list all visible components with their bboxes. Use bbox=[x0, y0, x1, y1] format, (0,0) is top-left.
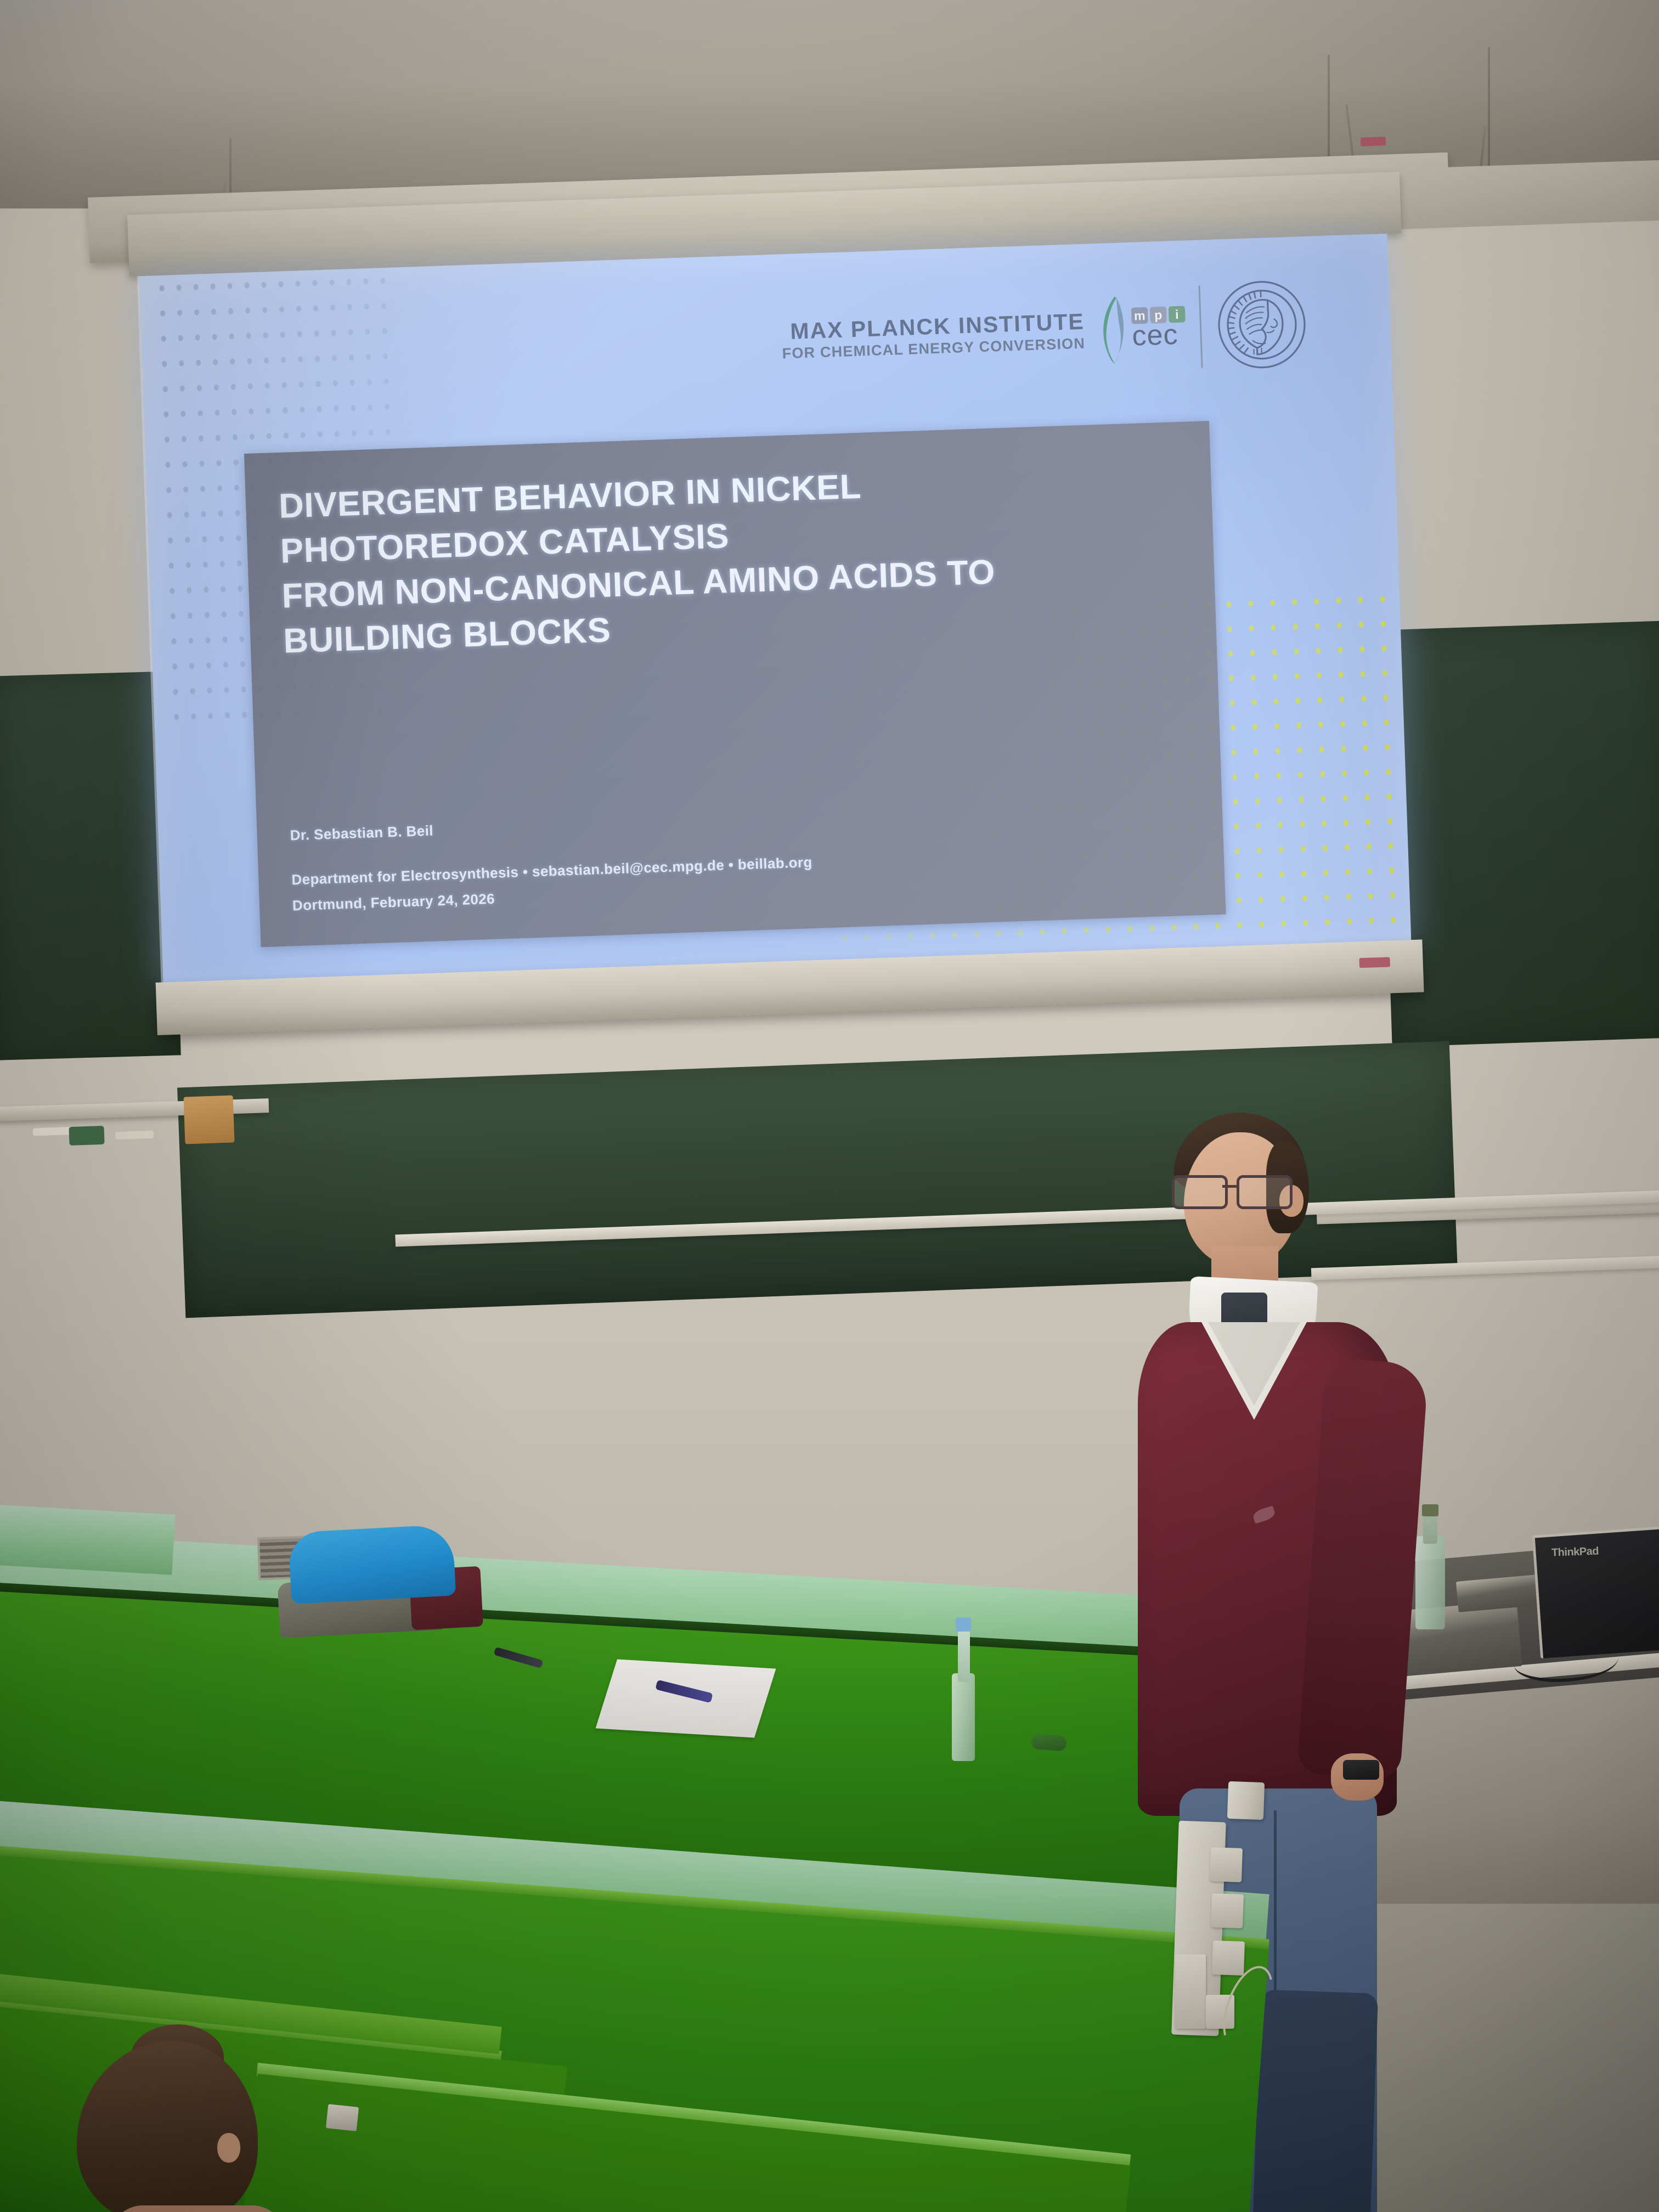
decor-dot bbox=[230, 358, 235, 364]
decor-dot bbox=[1278, 847, 1283, 853]
decor-dot bbox=[313, 305, 318, 311]
decor-dot bbox=[1254, 773, 1259, 779]
decor-dot bbox=[1383, 670, 1387, 676]
decor-dot bbox=[1340, 721, 1345, 727]
decor-dot bbox=[1386, 793, 1391, 799]
decor-dot bbox=[385, 404, 390, 410]
slide-title: DIVERGENT BEHAVIOR IN NICKEL PHOTOREDOX … bbox=[278, 453, 1194, 664]
decor-dot bbox=[241, 686, 246, 692]
decor-dot bbox=[267, 433, 272, 439]
decor-dot bbox=[1346, 894, 1351, 900]
decor-dot bbox=[191, 713, 196, 719]
decor-dot bbox=[182, 461, 187, 467]
slide-title-box: DIVERGENT BEHAVIOR IN NICKEL PHOTOREDOX … bbox=[244, 421, 1226, 947]
decor-dot bbox=[1361, 696, 1366, 702]
decor-dot bbox=[177, 310, 182, 316]
decor-dot bbox=[231, 383, 236, 390]
decor-dot bbox=[265, 382, 270, 388]
decor-dot bbox=[1252, 724, 1257, 730]
decor-dot bbox=[201, 511, 206, 517]
decor-dot bbox=[383, 379, 388, 385]
decor-dot bbox=[168, 538, 173, 544]
decor-dot bbox=[180, 411, 185, 417]
decor-dot bbox=[206, 662, 211, 668]
decor-dot bbox=[1337, 622, 1342, 628]
decor-dot bbox=[166, 487, 171, 493]
decor-dot bbox=[1040, 929, 1045, 935]
decor-dot bbox=[1236, 898, 1241, 904]
decor-dot bbox=[1317, 697, 1322, 703]
decor-dot bbox=[1227, 626, 1232, 632]
decor-dot bbox=[199, 436, 204, 442]
slide-header: MAX PLANCK INSTITUTE FOR CHEMICAL ENERGY… bbox=[780, 277, 1310, 387]
decor-dot bbox=[212, 334, 217, 340]
audience-ear bbox=[217, 2133, 240, 2163]
decor-dot bbox=[162, 361, 167, 367]
decor-dot bbox=[1339, 672, 1344, 678]
decor-dot bbox=[161, 336, 166, 342]
decor-dot bbox=[248, 383, 253, 389]
decor-dot bbox=[1273, 674, 1278, 680]
decor-dot bbox=[239, 636, 244, 642]
decor-dot bbox=[1321, 795, 1325, 802]
decor-dot bbox=[1369, 917, 1374, 923]
decor-dot bbox=[200, 486, 205, 492]
decor-dot bbox=[1237, 922, 1242, 928]
decor-dot bbox=[163, 411, 168, 417]
decor-dot bbox=[330, 304, 335, 311]
decor-dot bbox=[1320, 771, 1325, 777]
decor-dot bbox=[1322, 820, 1327, 826]
decor-dot bbox=[1389, 867, 1394, 873]
decor-dot bbox=[196, 360, 201, 366]
decor-dot bbox=[211, 309, 216, 315]
screen-surface: MAX PLANCK INSTITUTE FOR CHEMICAL ENERGY… bbox=[139, 234, 1412, 989]
decor-dot bbox=[1385, 744, 1390, 750]
cec-text: m p i cec bbox=[1131, 306, 1187, 351]
decor-dot bbox=[1278, 822, 1283, 828]
decor-dot bbox=[299, 381, 304, 387]
decor-dot bbox=[187, 587, 191, 593]
decor-dot bbox=[239, 611, 244, 617]
decor-dot bbox=[179, 360, 184, 366]
decor-dot bbox=[207, 687, 212, 693]
presentation-clicker[interactable] bbox=[1343, 1760, 1379, 1780]
decor-dot bbox=[222, 636, 227, 642]
decor-dot bbox=[386, 429, 391, 435]
decor-dot bbox=[220, 561, 225, 567]
decor-dot bbox=[347, 304, 352, 310]
decor-dot bbox=[1345, 869, 1350, 875]
presentation-slide: MAX PLANCK INSTITUTE FOR CHEMICAL ENERGY… bbox=[139, 234, 1412, 989]
decor-dot bbox=[1231, 749, 1236, 755]
glasses-lens-left bbox=[1172, 1175, 1228, 1209]
decor-dot bbox=[170, 588, 174, 594]
decor-dot bbox=[1294, 648, 1299, 654]
blue-jacket bbox=[288, 1524, 456, 1604]
decor-dot bbox=[1317, 672, 1322, 678]
decor-dot bbox=[1365, 819, 1370, 825]
decor-dot bbox=[242, 712, 247, 718]
decor-dot bbox=[1171, 924, 1176, 930]
decor-dot bbox=[1270, 600, 1275, 606]
decor-dot bbox=[1256, 822, 1261, 828]
water-bottle-bench[interactable] bbox=[952, 1673, 975, 1761]
decor-dot bbox=[202, 536, 207, 542]
paper-sheet[interactable] bbox=[596, 1659, 776, 1737]
decor-dot bbox=[298, 356, 303, 362]
mpi-cec-logo: m p i cec bbox=[1098, 292, 1187, 365]
decor-dot bbox=[217, 485, 222, 491]
decor-dot bbox=[1235, 873, 1240, 879]
decor-dot bbox=[369, 430, 374, 436]
decor-dot bbox=[213, 359, 218, 365]
decor-dot bbox=[1292, 599, 1297, 605]
decor-dot bbox=[169, 562, 174, 568]
decor-dot bbox=[1255, 798, 1260, 804]
decor-dot bbox=[364, 303, 369, 309]
decor-dot bbox=[1347, 918, 1352, 924]
decor-dot bbox=[1215, 923, 1220, 929]
decor-dot bbox=[1367, 868, 1372, 874]
mpi-wordmark: MAX PLANCK INSTITUTE FOR CHEMICAL ENERGY… bbox=[781, 311, 1086, 362]
decor-dot bbox=[1316, 647, 1321, 653]
decor-dot bbox=[1364, 794, 1369, 800]
water-bottle-bench-neck bbox=[958, 1628, 970, 1682]
decor-dot bbox=[1319, 746, 1324, 752]
decor-dot bbox=[317, 406, 321, 412]
decor-dot bbox=[184, 511, 189, 517]
decor-dot bbox=[178, 335, 183, 341]
decor-dot bbox=[278, 281, 283, 287]
decor-dot bbox=[1275, 748, 1280, 754]
decor-dot bbox=[1359, 622, 1364, 628]
decor-dot bbox=[221, 586, 225, 592]
laptop-brand-mark: ThinkPad bbox=[1551, 1545, 1599, 1560]
decor-dot bbox=[1303, 920, 1308, 926]
decor-dot bbox=[1248, 601, 1253, 607]
decor-dot bbox=[297, 331, 302, 337]
decor-dot bbox=[886, 934, 891, 940]
decor-dot bbox=[1301, 871, 1306, 877]
decor-dot bbox=[1277, 797, 1282, 803]
decor-dot bbox=[245, 307, 250, 313]
decor-dot bbox=[174, 714, 179, 720]
decor-dot bbox=[247, 358, 252, 364]
decor-dot bbox=[352, 430, 357, 436]
decor-dot bbox=[1281, 921, 1286, 927]
decor-dot bbox=[240, 661, 245, 667]
decor-dot bbox=[1295, 673, 1300, 679]
power-box-top bbox=[1227, 1781, 1265, 1820]
decor-dot bbox=[952, 932, 957, 938]
presenter-name: Dr. Sebastian B. Beil bbox=[290, 796, 1200, 844]
decor-dot bbox=[198, 410, 202, 416]
decor-dot bbox=[186, 562, 191, 568]
decor-dot bbox=[227, 283, 232, 289]
decor-dot bbox=[348, 329, 353, 335]
decor-dot bbox=[210, 284, 215, 290]
decor-dot bbox=[331, 330, 336, 336]
decor-dot bbox=[1234, 848, 1239, 854]
decor-dot bbox=[1361, 671, 1365, 677]
decor-dot bbox=[180, 386, 185, 392]
decor-dot bbox=[312, 280, 317, 286]
decor-dot bbox=[1381, 645, 1386, 651]
decor-dot bbox=[1300, 821, 1305, 827]
decor-dot bbox=[1318, 721, 1323, 727]
speaker-glasses bbox=[1172, 1175, 1297, 1206]
decor-dot bbox=[1380, 620, 1385, 627]
decor-dot bbox=[1358, 597, 1363, 603]
decor-dot bbox=[281, 357, 286, 363]
decor-dot bbox=[1302, 895, 1307, 901]
decor-dot bbox=[381, 303, 386, 309]
decor-dot bbox=[237, 560, 242, 566]
decor-dot bbox=[1229, 675, 1234, 681]
decor-dot bbox=[365, 329, 370, 335]
decor-dot bbox=[1299, 797, 1304, 803]
decor-dot bbox=[380, 278, 385, 284]
decor-dot bbox=[1344, 820, 1348, 826]
decor-dot bbox=[172, 663, 177, 669]
decor-dot bbox=[930, 933, 935, 939]
decor-dot bbox=[159, 285, 164, 291]
decor-dot bbox=[193, 284, 198, 290]
decor-dot bbox=[1271, 624, 1276, 630]
decor-dot bbox=[225, 712, 230, 718]
decor-dot bbox=[167, 512, 172, 518]
decor-dot bbox=[1105, 927, 1110, 933]
audience-shoulder bbox=[110, 2205, 285, 2212]
decor-dot bbox=[1368, 893, 1373, 899]
decor-dot bbox=[219, 535, 224, 541]
decor-dot bbox=[1149, 925, 1154, 931]
decor-dot bbox=[279, 306, 284, 312]
decor-dot bbox=[228, 308, 233, 314]
decor-dot bbox=[1280, 896, 1285, 902]
glasses-lens-right bbox=[1237, 1175, 1293, 1209]
decor-dot bbox=[1338, 647, 1342, 653]
decor-dot bbox=[199, 460, 204, 466]
decor-dot bbox=[1324, 894, 1329, 900]
decor-dot bbox=[1380, 596, 1385, 602]
decor-dot bbox=[1297, 747, 1302, 753]
decor-dot bbox=[1390, 892, 1395, 898]
decor-dot bbox=[280, 331, 285, 337]
decor-dot bbox=[1127, 926, 1132, 932]
decor-dot bbox=[382, 328, 387, 334]
decor-dot bbox=[1018, 929, 1023, 935]
cec-leaf-icon bbox=[1098, 294, 1130, 365]
decor-dot bbox=[315, 381, 320, 387]
decor-dot bbox=[974, 931, 979, 937]
decor-dot bbox=[1387, 818, 1392, 824]
decor-dot bbox=[262, 307, 267, 313]
decor-dot bbox=[908, 933, 913, 939]
lecture-hall-scene: MAX PLANCK INSTITUTE FOR CHEMICAL ENERGY… bbox=[0, 0, 1659, 2212]
bench-label-plate bbox=[326, 2104, 359, 2131]
decor-dot bbox=[1344, 844, 1349, 850]
decor-dot bbox=[334, 405, 338, 411]
decor-dot bbox=[1323, 870, 1328, 876]
decor-dot bbox=[283, 407, 287, 413]
decor-dot bbox=[1259, 921, 1264, 927]
decor-dot bbox=[1226, 601, 1231, 607]
decor-dot bbox=[249, 408, 253, 414]
decor-dot bbox=[183, 487, 188, 493]
decor-dot bbox=[216, 460, 221, 466]
screen-mount-rail-right bbox=[1361, 160, 1659, 230]
decor-dot bbox=[1336, 597, 1341, 603]
decor-dot bbox=[368, 404, 373, 410]
decor-dot bbox=[1362, 720, 1367, 726]
slide-metadata: Dr. Sebastian B. Beil Department for Ele… bbox=[290, 796, 1203, 914]
decor-dot bbox=[1383, 695, 1388, 701]
decor-dot bbox=[366, 354, 371, 360]
board-eraser bbox=[69, 1126, 104, 1145]
decor-dot bbox=[314, 330, 319, 336]
decor-dot bbox=[189, 663, 194, 669]
water-bottle-bench-cap bbox=[956, 1617, 971, 1632]
decor-dot bbox=[205, 612, 210, 618]
decor-dot bbox=[1341, 746, 1346, 752]
decor-dot bbox=[264, 357, 269, 363]
decor-dot bbox=[250, 433, 255, 439]
power-socket-low[interactable] bbox=[1212, 1940, 1245, 1976]
decor-dot bbox=[218, 510, 223, 516]
decor-dot bbox=[223, 662, 228, 668]
decor-dot bbox=[233, 459, 238, 465]
decor-dot bbox=[195, 335, 200, 341]
decor-dot bbox=[173, 689, 178, 695]
decor-dot bbox=[332, 380, 337, 386]
decor-dot bbox=[1293, 624, 1298, 630]
decor-dot bbox=[1256, 847, 1261, 853]
decor-dot bbox=[1276, 772, 1281, 778]
wall-socket-pair[interactable] bbox=[1175, 1954, 1206, 2029]
decor-dot bbox=[1300, 846, 1305, 852]
decor-dot bbox=[349, 380, 354, 386]
decor-dot bbox=[1249, 625, 1254, 631]
decor-dot bbox=[1193, 923, 1198, 929]
decor-dot bbox=[1339, 696, 1344, 702]
decor-dot bbox=[238, 585, 242, 591]
decor-dot bbox=[246, 332, 251, 338]
decor-dot bbox=[335, 431, 340, 437]
decor-dot bbox=[215, 409, 219, 415]
decor-dot bbox=[1274, 723, 1279, 729]
projection-screen: MAX PLANCK INSTITUTE FOR CHEMICAL ENERGY… bbox=[127, 172, 1429, 1070]
decor-dot bbox=[864, 935, 869, 941]
decor-dot bbox=[996, 930, 1001, 936]
decor-dot bbox=[349, 354, 354, 360]
decor-dot bbox=[1342, 795, 1347, 801]
decor-dot bbox=[1359, 646, 1364, 652]
decor-dot bbox=[284, 432, 289, 438]
decor-dot bbox=[315, 356, 320, 362]
decor-dot bbox=[1231, 725, 1235, 731]
decor-dot bbox=[194, 309, 199, 315]
power-socket-top[interactable] bbox=[1210, 1847, 1243, 1882]
decor-dot bbox=[295, 280, 300, 286]
decor-dot bbox=[1251, 675, 1256, 681]
decor-dot bbox=[216, 435, 221, 441]
decor-dot bbox=[329, 279, 334, 285]
ceiling-wire-right bbox=[1488, 47, 1490, 173]
decor-dot bbox=[208, 713, 213, 719]
power-socket-mid[interactable] bbox=[1211, 1893, 1244, 1928]
decor-dot bbox=[1391, 917, 1396, 923]
decor-dot bbox=[1315, 623, 1320, 629]
decor-dot bbox=[1228, 651, 1233, 657]
decor-dot bbox=[1342, 770, 1347, 776]
decor-dot bbox=[1233, 799, 1238, 805]
decor-dot bbox=[1322, 845, 1327, 851]
decor-dot bbox=[383, 353, 388, 359]
chalk-piece-2 bbox=[115, 1131, 154, 1139]
decor-dot bbox=[1250, 650, 1255, 656]
decor-dot bbox=[1279, 871, 1284, 877]
decor-dot bbox=[366, 379, 371, 385]
decor-dot bbox=[300, 407, 304, 413]
decor-dot bbox=[204, 586, 208, 592]
decor-dot bbox=[296, 306, 301, 312]
decor-dot bbox=[1296, 723, 1301, 729]
decor-dot bbox=[282, 382, 287, 388]
speaker-vneck-shade bbox=[1208, 1322, 1300, 1406]
decor-dot bbox=[1232, 774, 1237, 780]
decor-dot bbox=[234, 484, 239, 490]
decor-dot bbox=[1062, 928, 1066, 934]
decor-dot bbox=[1272, 649, 1277, 655]
decor-dot bbox=[171, 613, 176, 619]
decor-dot bbox=[1084, 927, 1088, 933]
bench-small-object bbox=[1031, 1734, 1067, 1751]
decor-dot bbox=[842, 935, 847, 941]
decor-dot bbox=[263, 332, 268, 338]
rail-red-marker bbox=[1361, 137, 1386, 146]
decor-dot bbox=[224, 687, 229, 693]
decor-dot bbox=[1314, 598, 1319, 604]
decor-dot bbox=[165, 437, 170, 443]
audience-member bbox=[77, 2024, 307, 2212]
decor-dot bbox=[1364, 770, 1369, 776]
logo-divider bbox=[1199, 286, 1203, 368]
decor-dot bbox=[332, 355, 337, 361]
decor-dot bbox=[244, 283, 249, 289]
decor-dot bbox=[214, 385, 219, 391]
glasses-bridge bbox=[1222, 1185, 1237, 1188]
decor-dot bbox=[197, 385, 202, 391]
decor-dot bbox=[229, 334, 234, 340]
decor-dot bbox=[188, 637, 193, 644]
decor-dot bbox=[351, 405, 356, 411]
decor-dot bbox=[1258, 896, 1263, 902]
decor-dot bbox=[1298, 772, 1303, 778]
decor-dot bbox=[222, 611, 227, 617]
decor-dot bbox=[1273, 698, 1278, 704]
decor-dot bbox=[266, 408, 270, 414]
decor-dot bbox=[235, 510, 240, 516]
decor-dot bbox=[1366, 844, 1371, 850]
decor-dot bbox=[232, 409, 236, 415]
decor-dot bbox=[188, 612, 193, 618]
decor-dot bbox=[185, 537, 190, 543]
decor-dot bbox=[165, 462, 170, 468]
decor-dot bbox=[1257, 872, 1262, 878]
decor-dot bbox=[1325, 919, 1330, 925]
